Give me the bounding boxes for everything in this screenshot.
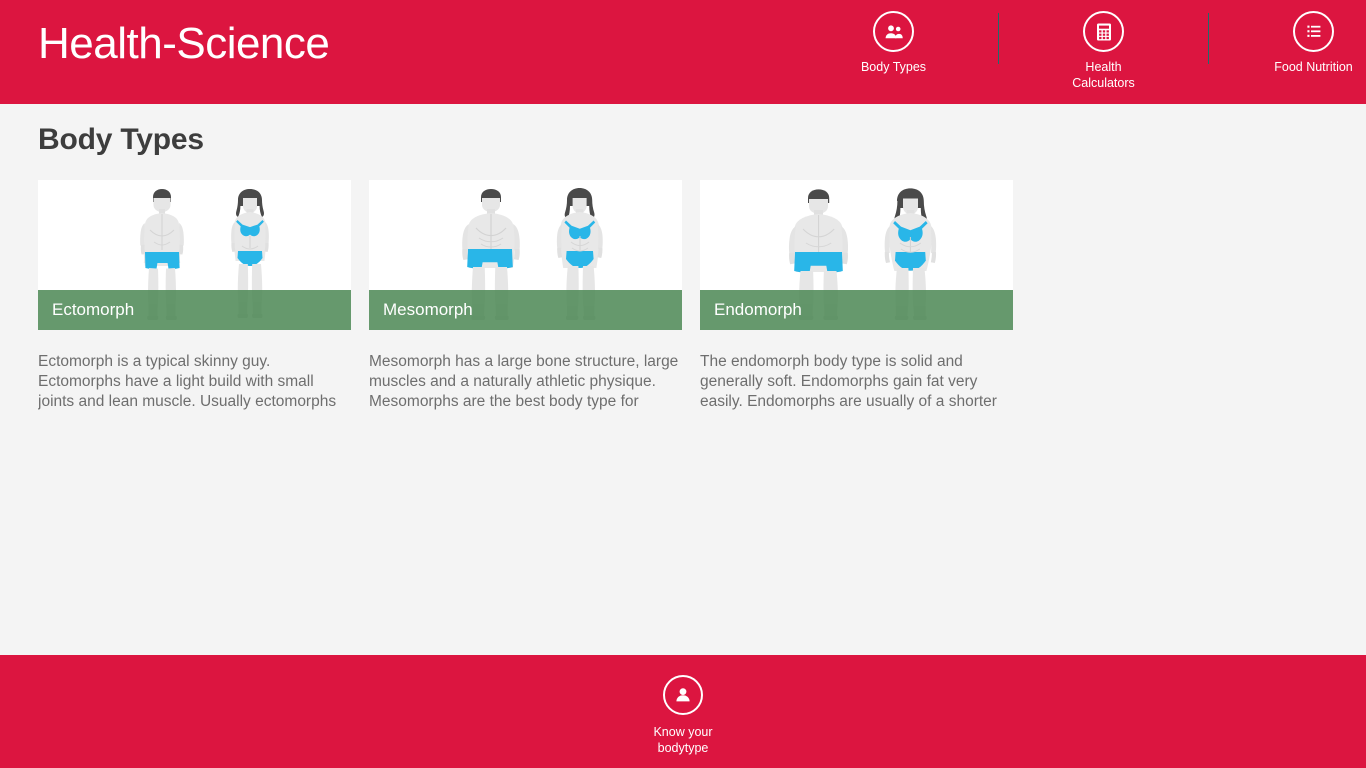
nav-item-label: Food Nutrition: [1261, 59, 1366, 75]
nav-item-food-nutrition[interactable]: Food Nutrition: [1261, 0, 1366, 75]
nav-item-body-types[interactable]: Body Types: [841, 0, 946, 75]
nav-item-label: Health Calculators: [1051, 59, 1156, 91]
card-description: The endomorph body type is solid and gen…: [700, 352, 1013, 412]
bottom-app-bar: Know your bodytype: [0, 655, 1366, 768]
body-type-card-mesomorph[interactable]: Mesomorph Mesomorph has a large bone str…: [369, 180, 682, 412]
card-label-overlay: Mesomorph: [369, 290, 682, 330]
card-label-overlay: Ectomorph: [38, 290, 351, 330]
body-type-card-ectomorph[interactable]: Ectomorph Ectomorph is a typical skinny …: [38, 180, 351, 412]
nav-item-health-calculators[interactable]: Health Calculators: [1051, 0, 1156, 91]
mesomorph-body-illustration: Mesomorph: [369, 180, 682, 330]
app-bar-item-know-your-bodytype[interactable]: Know your bodytype: [603, 675, 763, 756]
calculator-icon: [1083, 11, 1124, 52]
card-label-overlay: Endomorph: [700, 290, 1013, 330]
nav-divider: [1208, 13, 1209, 64]
nav-divider: [998, 13, 999, 64]
endomorph-body-illustration: Endomorph: [700, 180, 1013, 330]
card-label: Endomorph: [700, 299, 802, 321]
list-icon: [1293, 11, 1334, 52]
card-label: Ectomorph: [38, 299, 134, 321]
app-title: Health-Science: [38, 18, 329, 70]
card-label: Mesomorph: [369, 299, 473, 321]
person-icon: [663, 675, 703, 715]
body-type-card-list: Ectomorph Ectomorph is a typical skinny …: [38, 180, 1013, 412]
nav-item-label: Body Types: [841, 59, 946, 75]
app-bar-item-label: Know your bodytype: [603, 724, 763, 756]
app-header: Health-Science Body Types: [0, 0, 1366, 104]
header-nav: Body Types Health Calcul: [841, 0, 1366, 104]
page-title: Body Types: [38, 121, 204, 159]
card-description: Ectomorph is a typical skinny guy. Ectom…: [38, 352, 351, 412]
people-group-icon: [873, 11, 914, 52]
ectomorph-body-illustration: Ectomorph: [38, 180, 351, 330]
body-type-card-endomorph[interactable]: Endomorph The endomorph body type is sol…: [700, 180, 1013, 412]
card-description: Mesomorph has a large bone structure, la…: [369, 352, 682, 412]
